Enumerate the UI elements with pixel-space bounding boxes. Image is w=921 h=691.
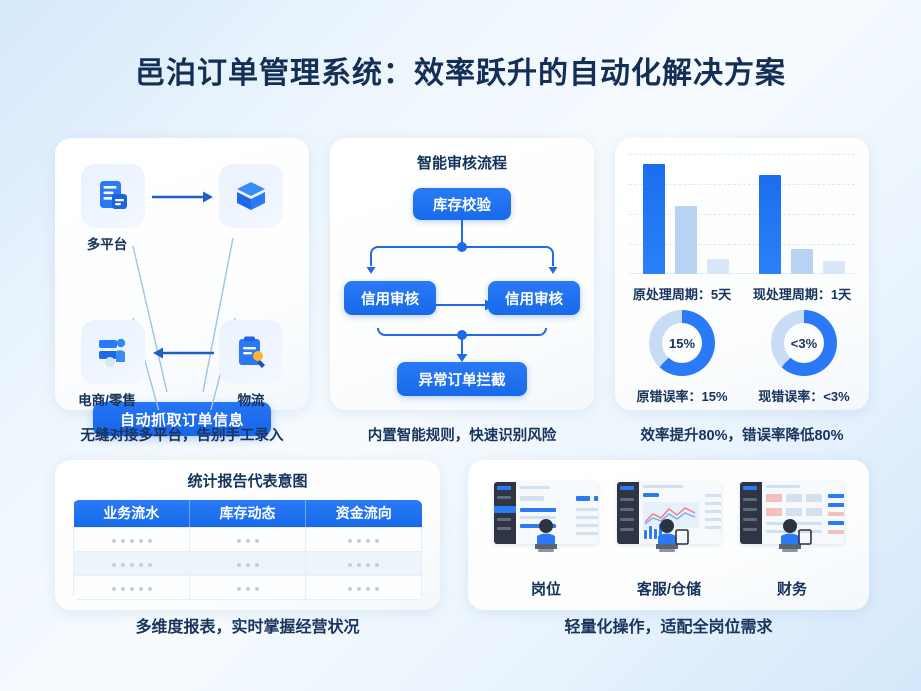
caption-flow: 内置智能规则，快速识别风险 (330, 424, 594, 445)
caption-platform: 无缝对接多平台，告别手工录入 (55, 424, 309, 445)
role-label-2: 客服/仓储 (609, 578, 729, 599)
table-cell (190, 551, 306, 575)
bar-label-after: 现处理周期：1天 (743, 284, 861, 303)
seated-person-icon (649, 518, 689, 554)
table-cell (306, 551, 422, 575)
screen-sidebar (740, 482, 762, 544)
flow-node-stock-check: 库存校验 (413, 188, 511, 220)
table-header-cell: 业务流水 (74, 500, 190, 527)
logistics-icon-tile (219, 320, 283, 384)
screen-sidebar (494, 482, 516, 544)
table-row (74, 551, 422, 575)
bar-g2-secondary (791, 249, 813, 274)
table-row (74, 575, 422, 599)
card-efficiency-metrics: 原处理周期：5天 现处理周期：1天 15% <3% 原错误率：15% 现错误率：… (615, 138, 869, 410)
bar-g1-tertiary (707, 259, 729, 274)
table-header-cell: 库存动态 (190, 500, 306, 527)
bar-g1-primary (643, 164, 665, 274)
caption-roles: 轻量化操作，适配全岗位需求 (468, 613, 869, 637)
seated-person-icon (526, 518, 566, 554)
seated-person-icon (772, 518, 812, 554)
table-cell (74, 575, 190, 599)
role-label-1: 岗位 (486, 578, 606, 599)
card-audit-flow: 智能审核流程 库存校验 信用审核 信用审核 异常订单拦截 (330, 138, 594, 410)
table-header-cell: 资金流向 (306, 500, 422, 527)
donut-label-after: 现错误率：<3% (743, 386, 865, 405)
retail-shelf-icon (94, 333, 132, 371)
table-row (74, 527, 422, 551)
donut-label-before: 原错误率：15% (621, 386, 743, 405)
donut-center-before: 15% (662, 323, 702, 363)
table-cell (306, 575, 422, 599)
caption-table: 多维度报表，实时掌握经营状况 (55, 613, 440, 637)
flow-node-credit-audit-1: 信用审核 (344, 281, 436, 315)
bar-chart (629, 154, 855, 274)
logistics-clipboard-icon (232, 333, 270, 371)
bar-g2-primary (759, 175, 781, 274)
node-label-retail: 电商/零售 (52, 389, 162, 409)
table-cell (74, 551, 190, 575)
donut-error-after: <3% (771, 310, 837, 376)
donut-center-after: <3% (784, 323, 824, 363)
bar-g1-secondary (675, 206, 697, 274)
flow-node-credit-audit-2: 信用审核 (488, 281, 580, 315)
page-title: 邑泊订单管理系统：效率跃升的自动化解决方案 (0, 48, 921, 92)
card-roles: 岗位 (468, 460, 869, 610)
card-platform-integration: 多平台 自动抓取订单信息 电商/零售 (55, 138, 309, 410)
report-table: 业务流水 库存动态 资金流向 (73, 500, 422, 600)
flow-node-order-block: 异常订单拦截 (397, 362, 527, 396)
donut-error-before: 15% (649, 310, 715, 376)
table-cell (190, 527, 306, 551)
table-cell (190, 575, 306, 599)
role-label-3: 财务 (732, 578, 852, 599)
table-title: 统计报告代表意图 (55, 470, 440, 491)
arrow-bottom-icon (151, 344, 215, 362)
card-report-table: 统计报告代表意图 业务流水 库存动态 资金流向 (55, 460, 440, 610)
screen-sidebar (617, 482, 639, 544)
retail-icon-tile (81, 320, 145, 384)
table-cell (74, 527, 190, 551)
table-cell (306, 527, 422, 551)
table-header-row: 业务流水 库存动态 资金流向 (74, 500, 422, 527)
bar-label-before: 原处理周期：5天 (623, 284, 741, 303)
node-label-logistics: 物流 (196, 389, 306, 409)
bar-g2-tertiary (823, 261, 845, 274)
caption-metrics: 效率提升80%，错误率降低80% (612, 424, 872, 445)
